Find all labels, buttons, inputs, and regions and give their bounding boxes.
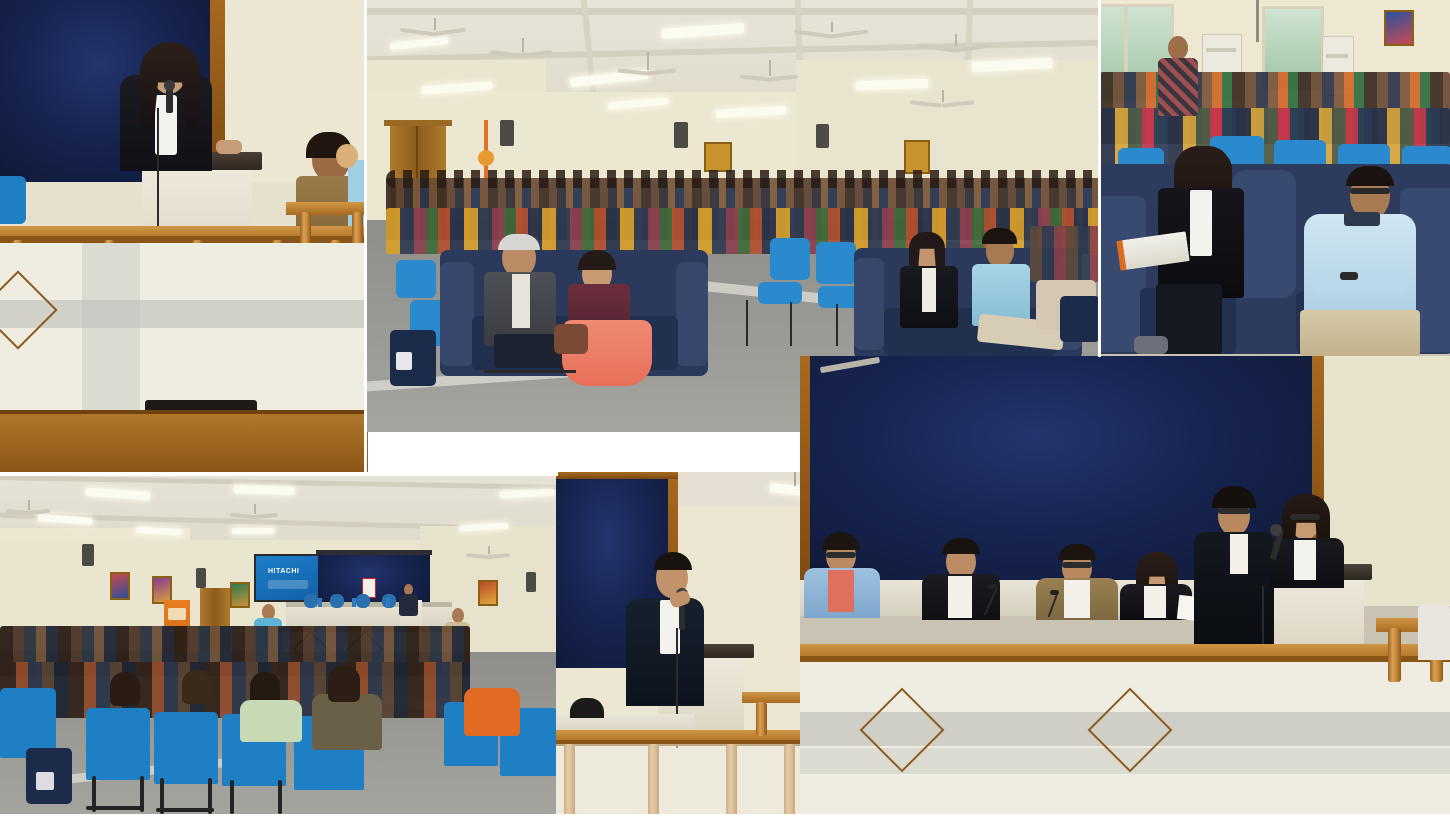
photo-panel-audience-closeup[interactable] (1100, 0, 1450, 357)
wall-speaker (674, 122, 688, 148)
photo-panel-hall-rear[interactable]: HITACHI (0, 476, 558, 818)
wall-picture (904, 140, 930, 174)
photo-panel-male-speaker[interactable] (556, 472, 828, 818)
wall-speaker (526, 572, 536, 592)
collage-gutter-vertical-left (364, 0, 367, 472)
ceiling-fan (494, 38, 550, 64)
wall-picture (230, 582, 250, 608)
man-sweater (1304, 214, 1416, 318)
ceiling-fan (924, 34, 986, 60)
wall-speaker (500, 120, 514, 146)
ceiling-fan (468, 546, 508, 564)
ceiling-fan (742, 60, 796, 86)
ceiling-fan (914, 90, 970, 114)
ceiling-fan (620, 52, 674, 78)
ceiling-fan (800, 22, 862, 48)
audience-backs-row2 (0, 662, 470, 718)
wall-picture (1384, 10, 1414, 46)
ceiling-fan (232, 504, 276, 524)
screen-text: HITACHI (268, 568, 299, 575)
wall-speaker (196, 568, 206, 588)
wall-picture (110, 572, 130, 600)
collage-gutter-vertical-right (1098, 0, 1101, 357)
blue-chair (0, 176, 26, 224)
blue-chair (154, 712, 218, 784)
ceiling-fan (820, 356, 920, 374)
backpack (1060, 296, 1100, 342)
wall-speaker (82, 544, 94, 566)
collage-gutter-horizontal (0, 472, 558, 476)
tube-light (232, 528, 274, 534)
wall-picture (704, 142, 732, 172)
blue-chair (86, 708, 150, 780)
standing-man-head (1168, 36, 1188, 60)
wall-speaker (816, 124, 829, 148)
photo-panel-panel-discussion[interactable] (800, 356, 1450, 818)
photo-panel-podium-speaker[interactable] (0, 0, 368, 472)
photo-collage: HITACHI (0, 0, 1450, 818)
collage-gutter-bottom (0, 814, 1450, 818)
ceiling-fan (8, 500, 48, 520)
wall-picture (478, 580, 498, 606)
ceiling-fan (406, 18, 462, 44)
